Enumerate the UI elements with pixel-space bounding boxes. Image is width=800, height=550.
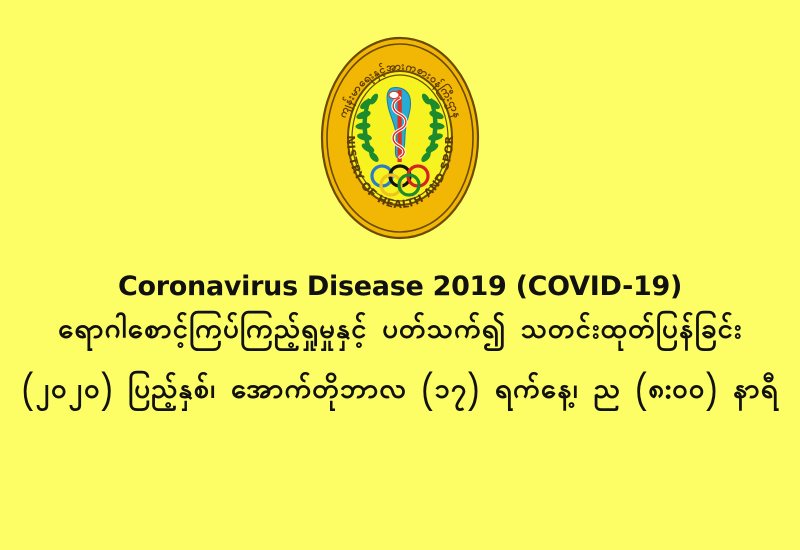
announcement-subject-burmese: ရောဂါစောင့်ကြပ်ကြည့်ရှုမှုနှင့် ပတ်သက်၍ …: [0, 316, 800, 348]
ministry-seal-logo: ကျန်းမာရေးနှင့်အားကစားဝန်ကြီးဌာန MINISTR…: [320, 36, 480, 240]
ministry-seal-icon: ကျန်းမာရေးနှင့်အားကစားဝန်ကြီးဌာန MINISTR…: [320, 36, 480, 240]
announcement-text-block: Coronavirus Disease 2019 (COVID-19) ရောဂ…: [0, 272, 800, 407]
page-title-english: Coronavirus Disease 2019 (COVID-19): [0, 272, 800, 302]
covid-announcement-banner: ကျန်းမာရေးနှင့်အားကစားဝန်ကြီးဌာန MINISTR…: [0, 0, 800, 550]
announcement-datetime-burmese: (၂၀၂၀) ပြည့်နှစ်၊ အောက်တိုဘာလ (၁၇) ရက်နေ…: [0, 376, 800, 408]
